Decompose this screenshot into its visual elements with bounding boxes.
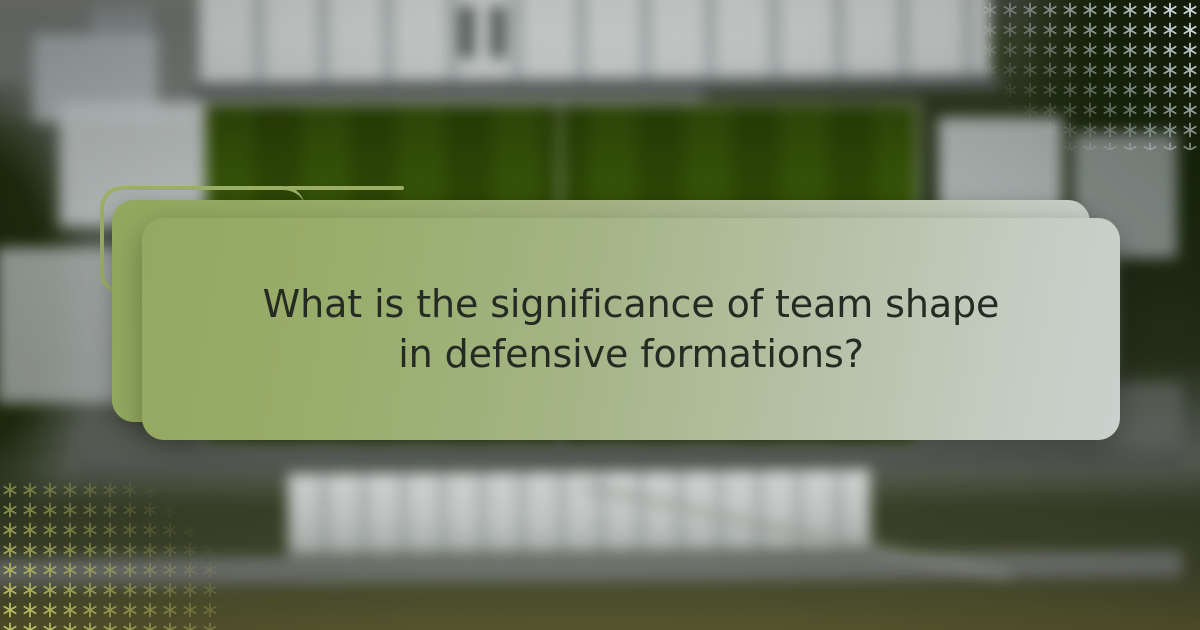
- question-card[interactable]: What is the significance of team shape i…: [142, 218, 1120, 440]
- poster-canvas: What is the significance of team shape i…: [0, 0, 1200, 630]
- card-outline-tail: [286, 186, 404, 190]
- card-stack: What is the significance of team shape i…: [100, 186, 1100, 448]
- question-text: What is the significance of team shape i…: [250, 279, 1013, 379]
